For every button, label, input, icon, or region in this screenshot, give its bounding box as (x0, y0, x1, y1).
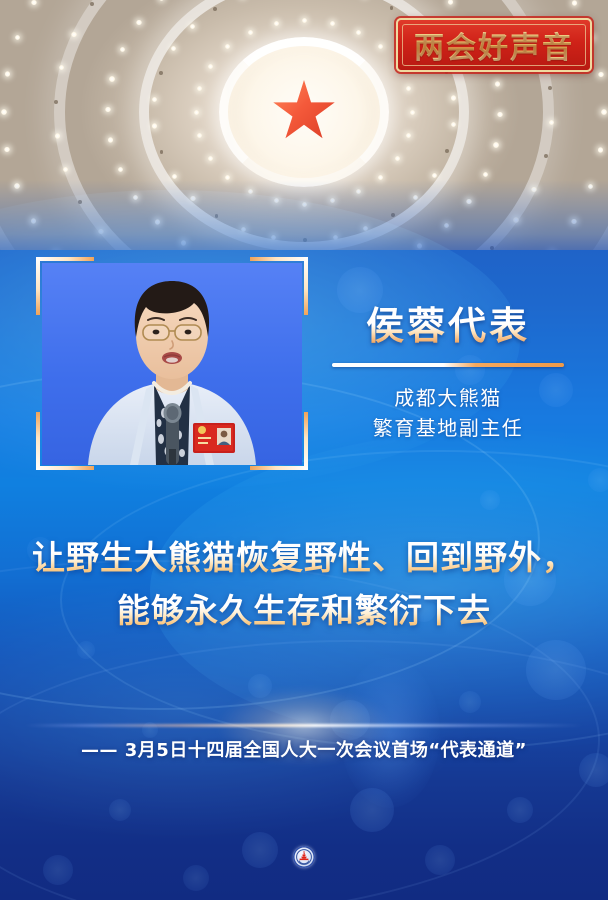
ceiling-light-dot (391, 213, 395, 217)
bokeh-circle (183, 865, 209, 891)
ceiling-light-dot (109, 76, 114, 81)
ceiling-light-dot (215, 214, 219, 218)
speaker-portrait-illustration (42, 263, 302, 465)
quote-block: 让野生大熊猫恢复野性、回到野外， 能够永久生存和繁衍下去 (0, 532, 608, 638)
bokeh-circle (109, 799, 131, 821)
bokeh-circle (43, 855, 73, 885)
ceiling-light-dot (378, 175, 383, 180)
ceiling-light-dot (160, 150, 164, 154)
ceiling-light-dot (483, 172, 488, 177)
ceiling-light-dot (544, 154, 548, 158)
ceiling-light-dot (31, 0, 37, 5)
bokeh-circle (330, 700, 370, 740)
ceiling-light-dot (303, 238, 307, 242)
delegate-badge (193, 423, 235, 453)
ceiling-light-dot (601, 109, 607, 115)
ceiling-light-dot (136, 20, 141, 25)
name-divider (332, 363, 564, 367)
ceiling-light-dot (108, 137, 113, 142)
ceiling-light-dot (120, 47, 125, 52)
ceiling-light-dot (271, 235, 276, 240)
ceiling-light-dot (302, 202, 307, 207)
ceiling-light-dot (432, 173, 437, 178)
ceiling-light-dot (225, 44, 230, 49)
ceiling-light-dot (208, 156, 213, 161)
ceiling-light-dot (4, 147, 10, 153)
ceiling-light-dot (248, 30, 253, 35)
ceiling-light-dot (356, 189, 361, 194)
ceiling-light-dot (390, 6, 394, 10)
ceiling-light-dot (333, 235, 338, 240)
ceiling-light-dot (155, 219, 160, 224)
ceiling-light-dot (451, 95, 456, 100)
ceiling-light-dot (302, 18, 307, 23)
ceiling-light-dot (5, 71, 11, 77)
ceiling-light-dot (417, 243, 422, 248)
speaker-role-line-1: 成都大熊猫 (318, 383, 578, 413)
speaker-role-line-2: 繁育基地副主任 (318, 413, 578, 443)
bokeh-circle (248, 674, 272, 698)
ceiling-light-dot (190, 24, 195, 29)
ceiling-light-dot (118, 167, 123, 172)
speaker-role: 成都大熊猫 繁育基地副主任 (318, 383, 578, 443)
ceiling-light-dot (78, 200, 82, 204)
ceiling-light-dot (588, 184, 594, 190)
bokeh-circle (459, 691, 481, 713)
speaker-name: 侯蓉代表 (318, 305, 578, 349)
ceiling-light-dot (451, 122, 456, 127)
ceiling-light-dot (274, 198, 279, 203)
ceiling-light-dot (159, 0, 164, 1)
ceiling-light-dot (241, 227, 246, 232)
ceiling-light-dot (190, 196, 195, 201)
bokeh-circle (425, 845, 455, 875)
ceiling-light-dot (208, 64, 213, 69)
quote-line-2: 能够永久生存和繁衍下去 (0, 585, 608, 638)
quote-line-1: 让野生大熊猫恢复野性、回到野外， (0, 532, 608, 585)
ceiling-light-dot (105, 107, 110, 112)
bokeh-circle (526, 640, 586, 700)
ceiling-light-dot (598, 147, 604, 153)
ceiling-light-dot (513, 217, 519, 223)
attribution-text: —— 3月5日十四届全国人大一次会议首场“代表通道” (0, 736, 608, 762)
ceiling-light-dot (59, 65, 65, 71)
ceiling-light-dot (152, 123, 157, 128)
ceiling-light-dot (497, 112, 502, 117)
ceiling-light-dot (330, 21, 335, 26)
ceiling-light-dot (63, 167, 69, 173)
ceiling-light-dot (15, 35, 21, 41)
program-banner: 两会好声音 (396, 18, 592, 72)
ceiling-light-dot (54, 100, 58, 104)
ceiling-light-dot (14, 183, 20, 189)
ceiling-light-dot (495, 81, 500, 86)
ceiling-light-dot (444, 223, 449, 228)
bokeh-circle (350, 788, 394, 832)
bokeh-circle (588, 468, 608, 492)
ceiling-light-dot (248, 189, 253, 194)
xinhua-emblem-icon (293, 846, 315, 868)
ceiling-light-dot (152, 97, 157, 102)
ceiling-light-dot (406, 133, 411, 138)
ceiling-light-dot (413, 195, 418, 200)
bokeh-circle (242, 832, 278, 868)
ceiling-light-dot (445, 149, 449, 153)
ceiling-light-dot (493, 142, 498, 147)
ceiling-light-dot (410, 110, 415, 115)
ceiling-light-dot (406, 86, 411, 91)
ceiling-light-dot (181, 240, 186, 245)
ceiling-light-dot (133, 195, 138, 200)
ceiling-light-dot (1, 109, 7, 115)
ceiling-light-dot (330, 198, 335, 203)
bokeh-circle (480, 490, 500, 510)
speaker-info-block: 侯蓉代表 成都大熊猫 繁育基地副主任 (318, 305, 578, 443)
speaker-photo-frame (36, 257, 308, 470)
ceiling-light-dot (274, 21, 279, 26)
ceiling-light-dot (197, 86, 202, 91)
ceiling-light-dot (571, 219, 577, 225)
bokeh-circle (507, 797, 533, 823)
ceiling-light-dot (197, 133, 202, 138)
ceiling-light-dot (31, 218, 37, 224)
ceiling-light-dot (55, 133, 61, 139)
speaker-photo (42, 263, 302, 465)
ceiling-light-dot (466, 199, 471, 204)
ceiling-light-dot (172, 174, 177, 179)
ceiling-light-dot (531, 187, 537, 193)
ceiling-light-dot (548, 86, 552, 90)
ceiling-light-dot (90, 2, 94, 6)
ceiling-light-dot (378, 44, 383, 49)
ceiling-light-dot (98, 229, 104, 235)
poster-root: 两会好声音 (0, 0, 608, 900)
program-banner-title: 两会好声音 (414, 23, 574, 67)
ceiling-light-dot (71, 32, 77, 38)
bokeh-circle (77, 641, 95, 659)
ceiling-light-dot (194, 110, 199, 115)
ceiling-light-dot (549, 120, 555, 126)
ceiling-light-dot (225, 175, 230, 180)
ceiling-light-dot (572, 0, 578, 6)
ceiling-light-dot (448, 0, 453, 5)
ceiling-light-dot (356, 30, 361, 35)
ceiling-light-dot (171, 46, 176, 51)
emblem-glyph (296, 849, 312, 865)
ceiling-light-dot (598, 72, 604, 78)
ceiling-light-dot (395, 156, 400, 161)
ceiling-light-dot (159, 71, 163, 75)
ceiling-light-dot (363, 226, 368, 231)
ceiling-light-dot (213, 7, 217, 11)
